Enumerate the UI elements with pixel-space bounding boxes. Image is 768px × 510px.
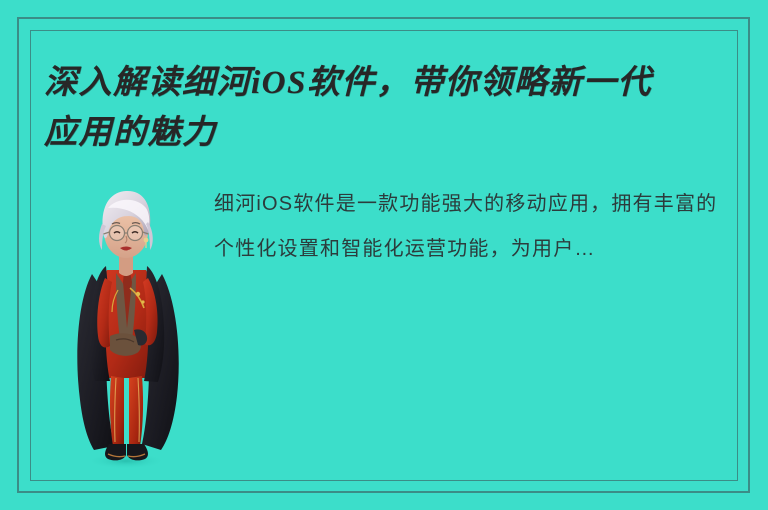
article-card: 深入解读细河iOS软件，带你领略新一代 应用的魅力: [0, 0, 768, 510]
page-title: 深入解读细河iOS软件，带你领略新一代 应用的魅力: [44, 58, 744, 158]
article-excerpt: 细河iOS软件是一款功能强大的移动应用，拥有丰富的个性化设置和智能化运营功能，为…: [214, 182, 738, 272]
character-illustration: [58, 178, 194, 470]
